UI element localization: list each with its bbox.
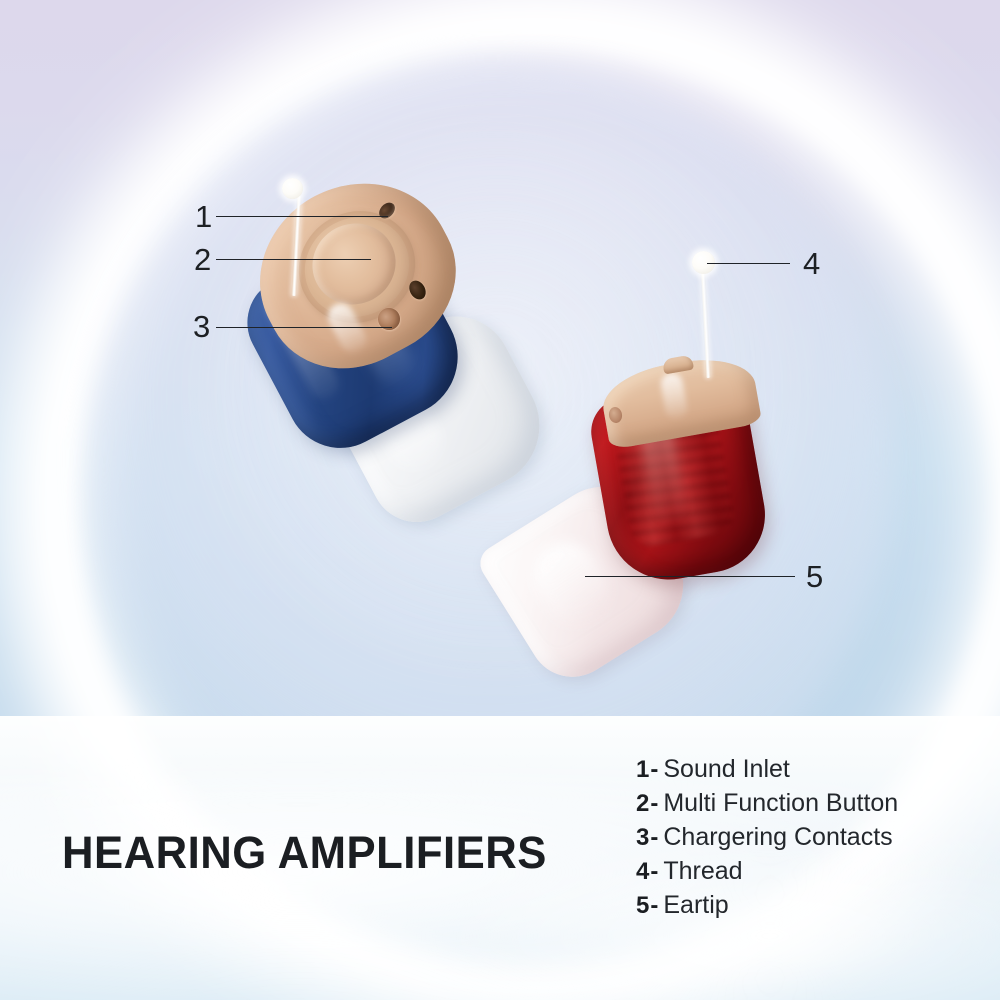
callout-number-1: 1	[195, 201, 212, 232]
callout-number-4: 4	[803, 248, 820, 279]
leader-line-2	[216, 259, 371, 260]
callout-number-3: 3	[193, 311, 210, 342]
background-upper-panel: 1 2 3 4 5	[0, 0, 1000, 716]
red-hearing-aid	[495, 355, 795, 665]
legend-item-2: 2 - Multi Function Button	[636, 791, 898, 816]
legend-item-5: 5 - Eartip	[636, 893, 898, 918]
legend-label-3: Chargering Contacts	[663, 825, 892, 850]
page-title: HEARING AMPLIFIERS	[62, 830, 547, 875]
legend-dash-2: -	[650, 792, 658, 816]
callout-number-2: 2	[194, 244, 211, 275]
leader-line-4	[707, 263, 790, 264]
legend-item-3: 3 - Chargering Contacts	[636, 825, 898, 850]
legend-label-2: Multi Function Button	[663, 791, 898, 816]
legend-item-1: 1 - Sound Inlet	[636, 757, 898, 782]
legend-dash-5: -	[650, 894, 658, 918]
blue-thread-knob	[282, 178, 303, 199]
legend-label-5: Eartip	[663, 893, 728, 918]
legend-number-3: 3	[636, 826, 649, 850]
leader-line-5	[585, 576, 795, 577]
legend-label-1: Sound Inlet	[663, 757, 790, 782]
legend-item-4: 4 - Thread	[636, 859, 898, 884]
legend-number-5: 5	[636, 894, 649, 918]
legend-dash-4: -	[650, 860, 658, 884]
legend-number-1: 1	[636, 758, 649, 782]
legend-dash-1: -	[650, 758, 658, 782]
callout-number-5: 5	[806, 561, 823, 592]
leader-line-1	[216, 216, 388, 217]
infographic-canvas: 1 2 3 4 5 HEARING AMPLIFIERS 1 - Sound I…	[0, 0, 1000, 1000]
legend-label-4: Thread	[663, 859, 742, 884]
legend-number-2: 2	[636, 792, 649, 816]
leader-line-3	[216, 327, 392, 328]
legend-number-4: 4	[636, 860, 649, 884]
legend-dash-3: -	[650, 826, 658, 850]
legend-list: 1 - Sound Inlet 2 - Multi Function Butto…	[636, 757, 898, 927]
